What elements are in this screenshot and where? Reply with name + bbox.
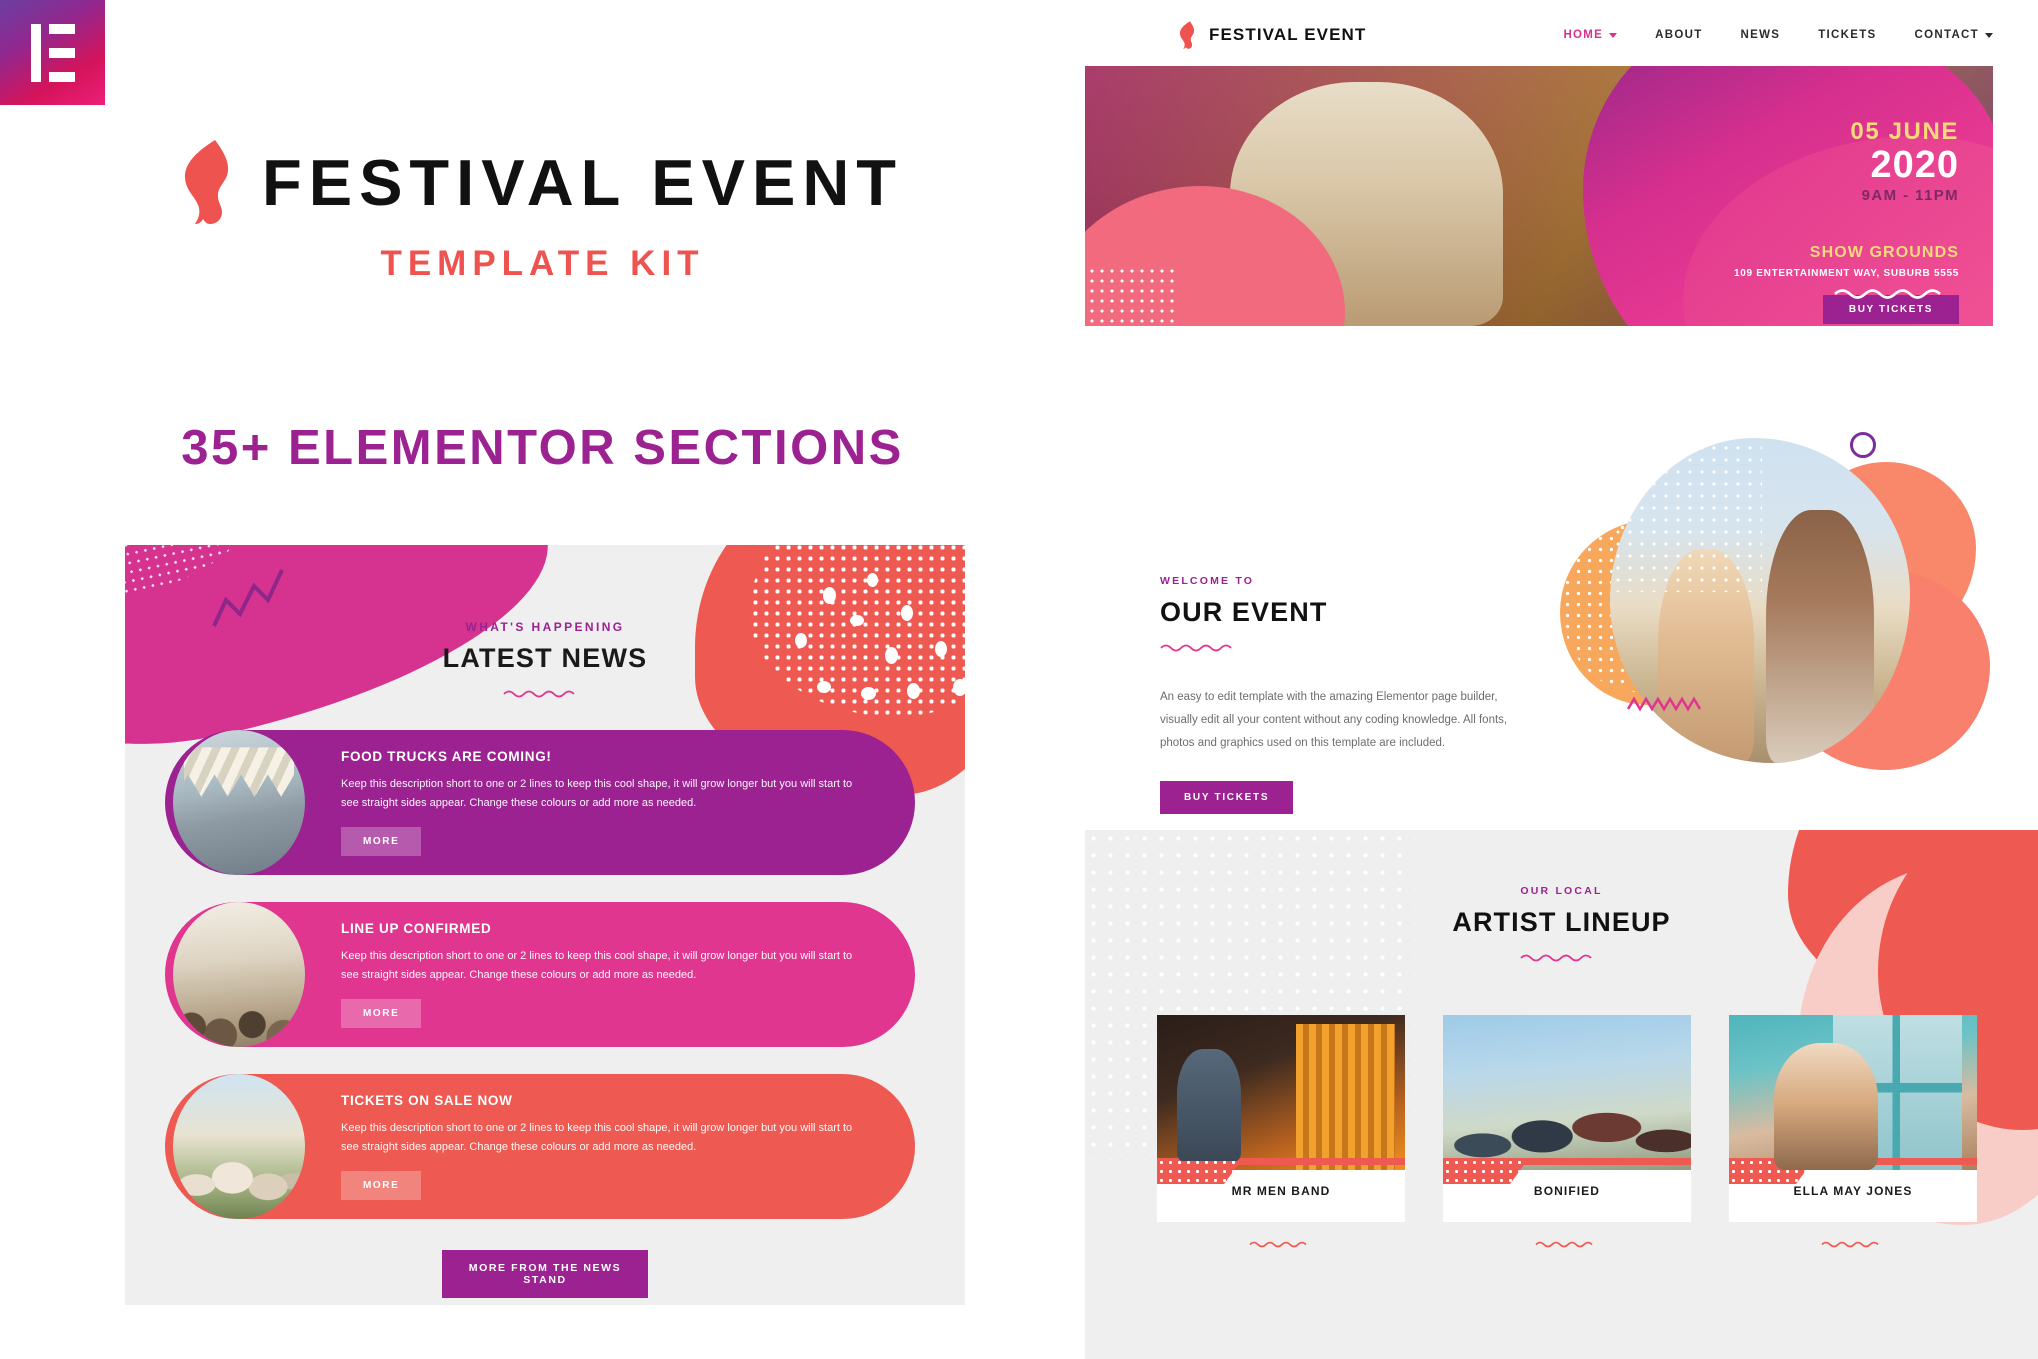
artist-corner-pattern [1157, 1158, 1243, 1184]
page-title: FESTIVAL EVENT [262, 150, 903, 215]
hero-year: 2020 [1659, 146, 1959, 186]
nav-item-about[interactable]: ABOUT [1655, 29, 1702, 41]
wave-divider-icon [1443, 1236, 1691, 1254]
artist-card[interactable]: MR MEN BAND [1157, 1015, 1405, 1254]
nav-item-home[interactable]: HOME [1563, 29, 1617, 41]
nav-item-label: CONTACT [1915, 29, 1979, 41]
news-card-more-button[interactable]: MORE [341, 1171, 421, 1200]
nav-item-label: ABOUT [1655, 29, 1702, 41]
kit-preview-left-column: FESTIVAL EVENT TEMPLATE KIT 35+ ELEMENTO… [0, 0, 1085, 1359]
our-event-copy: WELCOME TO OUR EVENT An easy to edit tem… [1160, 575, 1510, 814]
news-card[interactable]: TICKETS ON SALE NOW Keep this descriptio… [165, 1074, 915, 1219]
artist-photo [1729, 1015, 1977, 1170]
news-card-description: Keep this description short to one or 2 … [341, 947, 861, 986]
hero-date: 05 JUNE [1659, 118, 1959, 146]
news-card-more-button[interactable]: MORE [341, 999, 421, 1028]
artist-name: ELLA MAY JONES [1729, 1184, 1977, 1198]
site-preview-right-column: FESTIVAL EVENT HOME ABOUT NEWS TICKETS C… [1085, 0, 2038, 1359]
artist-name: MR MEN BAND [1157, 1184, 1405, 1198]
our-event-buy-tickets-button[interactable]: BUY TICKETS [1160, 781, 1293, 814]
news-card-thumbnail [173, 1074, 305, 1219]
nav-item-news[interactable]: NEWS [1741, 29, 1781, 41]
artist-card[interactable]: BONIFIED [1443, 1015, 1691, 1254]
wave-divider-icon [125, 686, 965, 704]
news-eyebrow: WHAT'S HAPPENING [125, 620, 965, 634]
chevron-down-icon [1609, 33, 1617, 38]
decorative-circle-outline-icon [1850, 432, 1876, 458]
decorative-dot-pattern [1085, 266, 1177, 326]
site-navigation-bar: FESTIVAL EVENT HOME ABOUT NEWS TICKETS C… [1085, 0, 2038, 70]
artist-lineup-title: ARTIST LINEUP [1085, 907, 2038, 938]
nav-item-tickets[interactable]: TICKETS [1818, 29, 1876, 41]
news-card-body: FOOD TRUCKS ARE COMING! Keep this descri… [305, 749, 901, 857]
latest-news-section: WHAT'S HAPPENING LATEST NEWS FOOD TRUCKS… [125, 545, 965, 1305]
festival-flame-icon [1179, 21, 1198, 49]
chevron-down-icon [1985, 33, 1993, 38]
news-header: WHAT'S HAPPENING LATEST NEWS [125, 620, 965, 704]
kit-title-block: FESTIVAL EVENT TEMPLATE KIT [0, 140, 1085, 284]
our-event-title: OUR EVENT [1160, 597, 1510, 628]
news-card-body: TICKETS ON SALE NOW Keep this descriptio… [305, 1093, 901, 1201]
hero-address: 109 ENTERTAINMENT WAY, SUBURB 5555 [1659, 268, 1959, 279]
festival-flame-icon [182, 140, 240, 224]
wave-divider-icon [1085, 950, 2038, 968]
artist-photo [1157, 1015, 1405, 1170]
wave-divider-icon [1157, 1236, 1405, 1254]
artist-label: MR MEN BAND [1157, 1170, 1405, 1222]
news-card[interactable]: LINE UP CONFIRMED Keep this description … [165, 902, 915, 1047]
artist-name: BONIFIED [1443, 1184, 1691, 1198]
wave-divider-icon [1833, 287, 1953, 306]
page-subtitle: TEMPLATE KIT [0, 244, 1085, 284]
nav-item-label: HOME [1563, 29, 1603, 41]
news-card-description: Keep this description short to one or 2 … [341, 775, 861, 814]
our-event-section: WELCOME TO OUR EVENT An easy to edit tem… [1085, 500, 2038, 800]
artist-lineup-section: OUR LOCAL ARTIST LINEUP MR MEN BAND [1085, 830, 2038, 1359]
sections-count-heading: 35+ ELEMENTOR SECTIONS [0, 420, 1085, 476]
news-card-title: LINE UP CONFIRMED [341, 921, 861, 936]
news-card-thumbnail [173, 730, 305, 875]
artist-photo [1443, 1015, 1691, 1170]
news-title: LATEST NEWS [125, 643, 965, 674]
our-event-description: An easy to edit template with the amazin… [1160, 686, 1510, 755]
news-card-title: FOOD TRUCKS ARE COMING! [341, 749, 861, 764]
news-card-more-button[interactable]: MORE [341, 827, 421, 856]
nav-brand-label: FESTIVAL EVENT [1209, 25, 1366, 45]
kit-brand-row: FESTIVAL EVENT [0, 140, 1085, 224]
more-from-news-stand-button[interactable]: MORE FROM THE NEWS STAND [442, 1250, 648, 1298]
decorative-photo-dot-pattern [1612, 442, 1762, 592]
artist-card-row: MR MEN BAND BONIFIED [1157, 1015, 1977, 1254]
news-card-title: TICKETS ON SALE NOW [341, 1093, 861, 1108]
hero-venue: SHOW GROUNDS [1659, 244, 1959, 262]
artist-corner-pattern [1443, 1158, 1529, 1184]
nav-brand[interactable]: FESTIVAL EVENT [1179, 21, 1366, 49]
artist-card[interactable]: ELLA MAY JONES [1729, 1015, 1977, 1254]
wave-divider-icon [1729, 1236, 1977, 1254]
nav-item-contact[interactable]: CONTACT [1915, 29, 1993, 41]
news-card[interactable]: FOOD TRUCKS ARE COMING! Keep this descri… [165, 730, 915, 875]
nav-item-label: NEWS [1741, 29, 1781, 41]
wave-divider-icon [1160, 640, 1510, 658]
news-card-thumbnail [173, 902, 305, 1047]
nav-item-label: TICKETS [1818, 29, 1876, 41]
hero-banner: 05 JUNE 2020 9AM - 11PM SHOW GROUNDS 109… [1085, 66, 1993, 326]
artist-lineup-header: OUR LOCAL ARTIST LINEUP [1085, 885, 2038, 968]
our-event-artwork [1548, 420, 2028, 790]
our-event-eyebrow: WELCOME TO [1160, 575, 1510, 587]
artist-lineup-eyebrow: OUR LOCAL [1085, 885, 2038, 897]
hero-time: 9AM - 11PM [1659, 187, 1959, 204]
news-card-body: LINE UP CONFIRMED Keep this description … [305, 921, 901, 1029]
artist-label: ELLA MAY JONES [1729, 1170, 1977, 1222]
decorative-zigzag-icon [1626, 695, 1704, 718]
nav-menu: HOME ABOUT NEWS TICKETS CONTACT [1563, 29, 1993, 41]
artist-label: BONIFIED [1443, 1170, 1691, 1222]
news-card-description: Keep this description short to one or 2 … [341, 1119, 861, 1158]
